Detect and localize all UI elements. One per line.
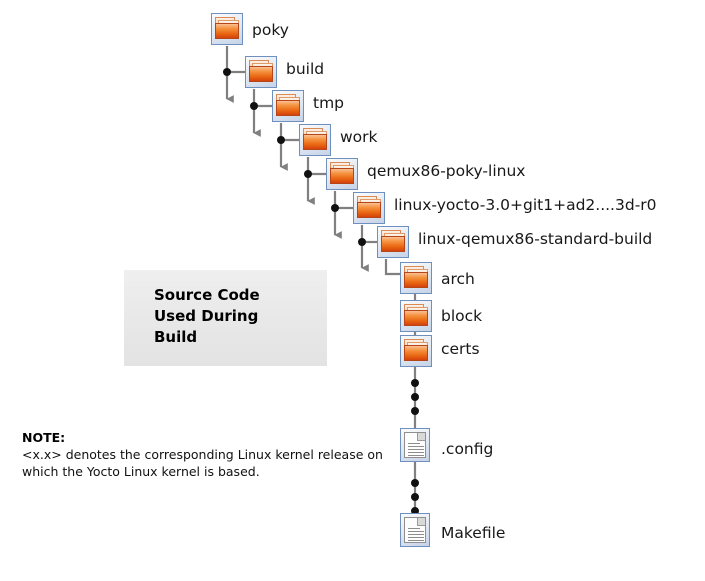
junction-dot-linuxyocto: [358, 238, 366, 246]
note-block: NOTE: <x.x> denotes the corresponding Li…: [22, 430, 383, 480]
connector-standard-arch: [386, 259, 400, 274]
folder-icon[interactable]: [400, 300, 432, 332]
folder-icon[interactable]: [400, 335, 432, 367]
node-label-build: build: [286, 60, 324, 78]
ellipsis-dot: [411, 407, 419, 415]
folder-icon[interactable]: [245, 56, 277, 88]
node-label-poky: poky: [252, 21, 289, 39]
node-label-arch: arch: [441, 270, 475, 288]
node-label-certs: certs: [441, 340, 480, 358]
source-code-callout: Source Code Used During Build: [124, 270, 327, 366]
junction-dot-build: [250, 102, 258, 110]
node-label-work: work: [340, 128, 378, 146]
junction-dot-work: [304, 170, 312, 178]
folder-icon[interactable]: [299, 124, 331, 156]
junction-dot-tmp: [277, 136, 285, 144]
junction-dot-poky: [223, 68, 231, 76]
node-label-makefile: Makefile: [441, 524, 505, 542]
folder-icon[interactable]: [353, 192, 385, 224]
note-title: NOTE:: [22, 430, 383, 446]
node-label-config: .config: [441, 440, 493, 458]
junction-dot-qemux86: [331, 204, 339, 212]
file-icon[interactable]: [400, 428, 430, 462]
folder-icon[interactable]: [377, 226, 409, 258]
node-label-linux-qemux86-standard-build: linux-qemux86-standard-build: [418, 230, 652, 248]
folder-icon[interactable]: [400, 262, 432, 294]
node-label-qemux86-poky-linux: qemux86-poky-linux: [367, 162, 525, 180]
folder-icon[interactable]: [211, 13, 243, 45]
folder-icon[interactable]: [326, 158, 358, 190]
ellipsis-dot: [411, 393, 419, 401]
file-icon[interactable]: [400, 513, 430, 547]
node-label-linux-yocto: linux-yocto-3.0+git1+ad2....3d-r0: [394, 196, 657, 214]
ellipsis-dot: [411, 479, 419, 487]
connector-layer: [0, 0, 705, 581]
node-label-block: block: [441, 307, 482, 325]
source-code-callout-text: Source Code Used During Build: [154, 285, 260, 348]
directory-tree-diagram: poky build tmp work: [0, 0, 705, 581]
note-body: <x.x> denotes the corresponding Linux ke…: [22, 446, 383, 480]
folder-icon[interactable]: [272, 90, 304, 122]
ellipsis-dot: [411, 379, 419, 387]
ellipsis-dot: [411, 493, 419, 501]
node-label-tmp: tmp: [313, 94, 344, 112]
